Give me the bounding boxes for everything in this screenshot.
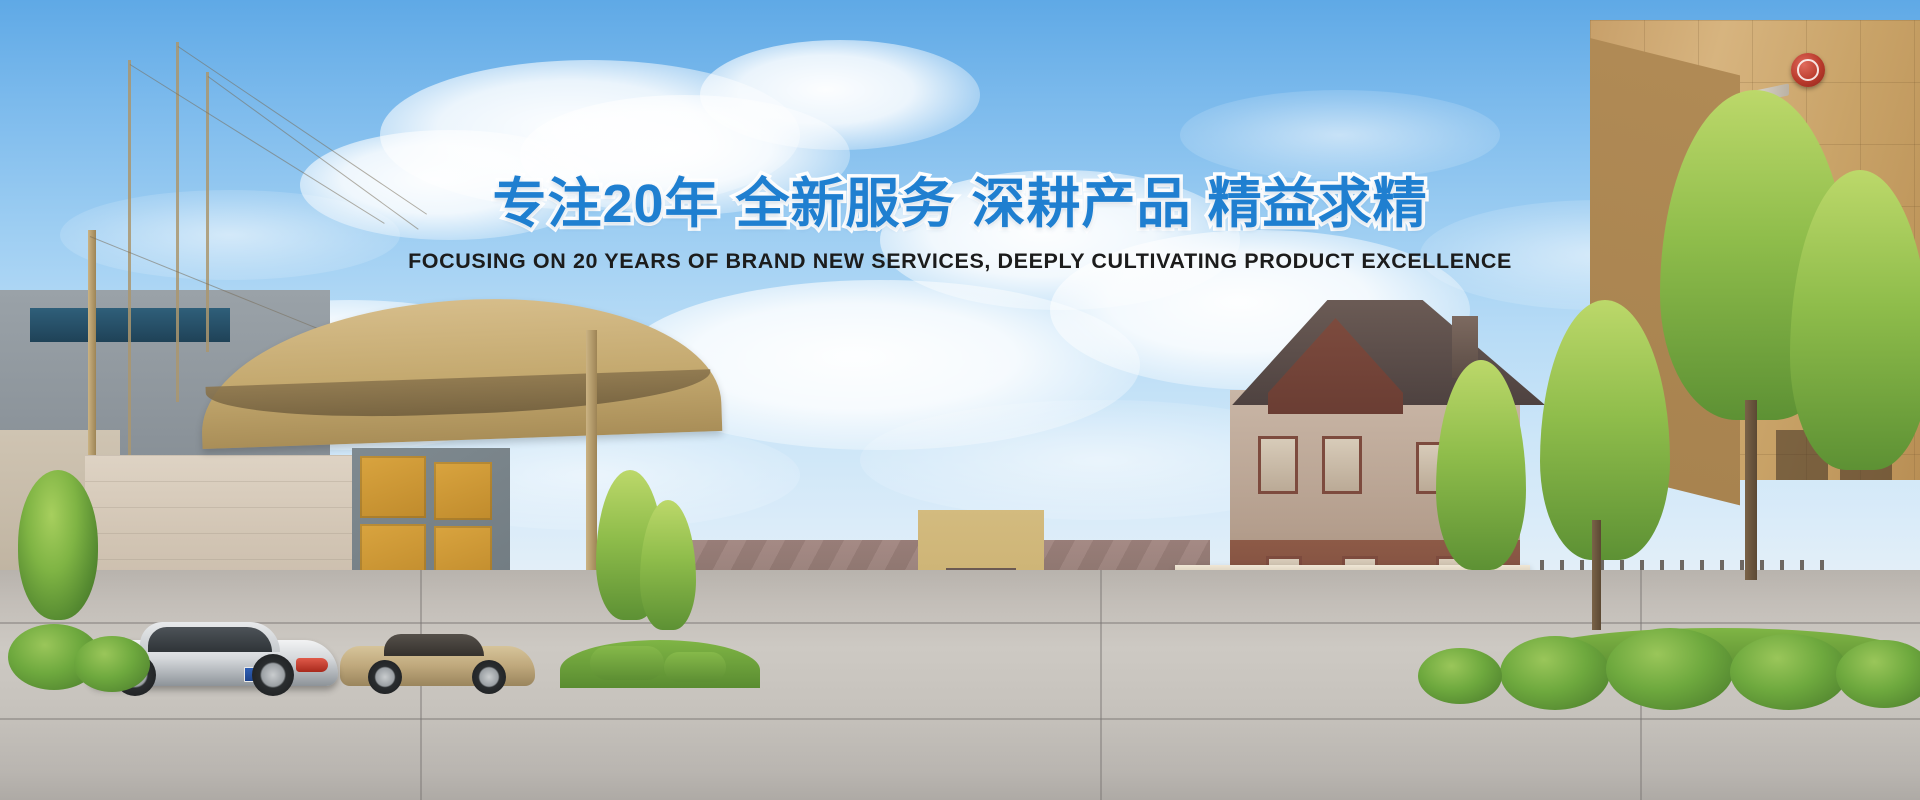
circular-brand-logo-icon xyxy=(1791,53,1825,87)
guy-wire xyxy=(208,76,419,230)
shrub xyxy=(1418,648,1502,704)
silver-sedan-glass xyxy=(148,627,272,652)
shrub xyxy=(1500,636,1610,710)
cloud-wisp xyxy=(60,190,400,280)
hero-banner: 股权代码: 660873 神龙拜耳 xyxy=(0,0,1920,800)
pavement-seam xyxy=(0,718,1920,720)
silver-sedan-wheel xyxy=(252,654,294,696)
banner-headline: 专注20年 全新服务 深耕产品 精益求精 xyxy=(492,176,1427,233)
tree-trunk xyxy=(1745,400,1757,580)
gold-sedan-glass xyxy=(384,634,484,656)
villa-window xyxy=(1322,436,1362,494)
cloud-shape xyxy=(300,130,600,240)
tree xyxy=(640,500,696,630)
tree-trunk xyxy=(1592,520,1601,630)
hedge xyxy=(590,646,664,680)
villa-window xyxy=(1258,436,1298,494)
shrub xyxy=(74,636,150,692)
gold-panel xyxy=(434,462,492,520)
flag-mast xyxy=(88,230,96,460)
antenna-mast xyxy=(128,60,131,460)
logo-inner-ring xyxy=(1797,59,1819,81)
guy-wire xyxy=(178,46,427,215)
gold-sedan xyxy=(340,628,535,694)
guy-wire xyxy=(130,64,385,224)
cloud-shape xyxy=(520,95,850,215)
gold-sedan-wheel xyxy=(368,660,402,694)
silver-sedan-taillight xyxy=(296,658,328,672)
pavement-seam xyxy=(1100,570,1102,800)
gold-panel xyxy=(360,456,426,518)
cloud-shape xyxy=(700,40,980,150)
shrub xyxy=(1730,634,1848,710)
tree xyxy=(18,470,98,620)
hedge xyxy=(664,652,726,682)
cloud-wisp xyxy=(1180,90,1500,180)
cloud-shape xyxy=(880,170,1240,310)
gold-sedan-wheel xyxy=(472,660,506,694)
shrub xyxy=(1606,628,1734,710)
cloud-shape xyxy=(380,60,800,210)
